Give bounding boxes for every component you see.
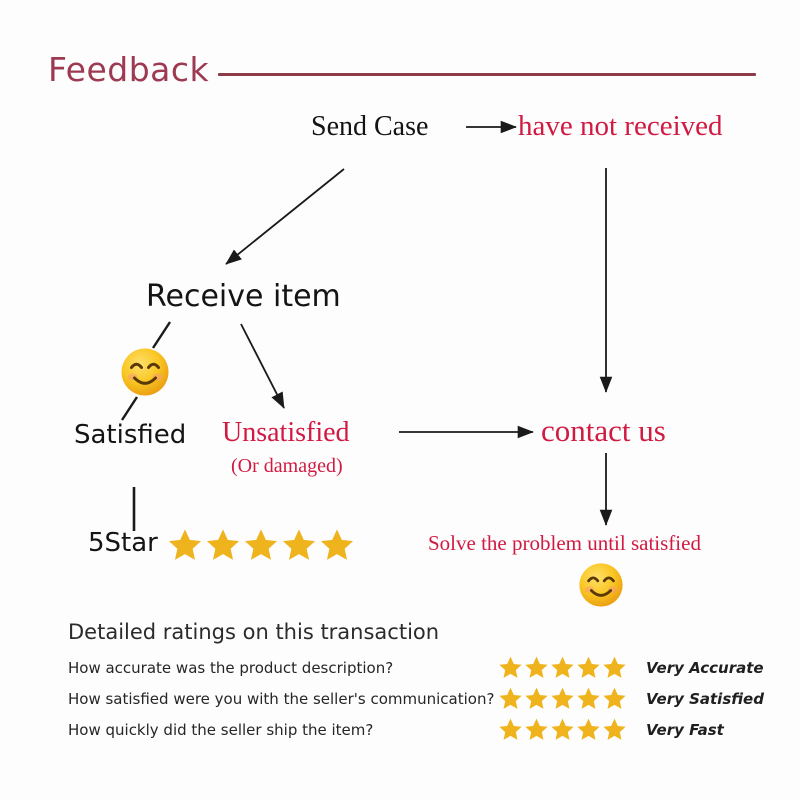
rating-row: How satisfied were you with the seller's… <box>68 683 768 714</box>
star-icon <box>602 655 627 680</box>
node-send-case: Send Case <box>311 111 428 143</box>
star-icon <box>524 655 549 680</box>
smiling-face-emoji <box>578 562 624 608</box>
node-5star-label: 5Star <box>88 528 158 558</box>
rating-row: How quickly did the seller ship the item… <box>68 714 768 745</box>
star-icon <box>576 717 601 742</box>
rating-stars <box>498 686 636 711</box>
rating-value: Very Satisfied <box>646 690 764 708</box>
rating-stars <box>498 655 636 680</box>
rating-value: Very Fast <box>646 721 724 739</box>
rating-stars <box>498 717 636 742</box>
star-icon <box>576 686 601 711</box>
node-have-not-received: have not received <box>518 110 723 143</box>
node-or-damaged: (Or damaged) <box>231 455 343 478</box>
star-icon <box>243 527 279 563</box>
rating-row: How accurate was the product description… <box>68 652 768 683</box>
star-icon <box>498 655 523 680</box>
smiling-face-emoji <box>120 347 170 397</box>
star-icon <box>550 686 575 711</box>
rating-question: How accurate was the product description… <box>68 659 498 677</box>
star-icon <box>602 686 627 711</box>
star-icon <box>550 655 575 680</box>
node-receive-item: Receive item <box>146 279 341 314</box>
star-icon <box>524 686 549 711</box>
line-receive-item-to-satisfied-upper <box>153 322 170 348</box>
star-icon <box>281 527 317 563</box>
page-title: Feedback <box>48 50 209 89</box>
star-icon <box>498 717 523 742</box>
star-icon <box>205 527 241 563</box>
rating-question: How satisfied were you with the seller's… <box>68 690 498 708</box>
node-solve-problem: Solve the problem until satisfied <box>428 531 701 556</box>
rating-value: Very Accurate <box>646 659 764 677</box>
star-icon <box>167 527 203 563</box>
star-icon <box>576 655 601 680</box>
arrow-receive-item-to-unsatisfied <box>241 324 284 408</box>
ratings-heading: Detailed ratings on this transaction <box>68 620 439 644</box>
ratings-list: How accurate was the product description… <box>68 652 768 745</box>
star-icon <box>524 717 549 742</box>
feedback-infographic: Feedback Send Case have not received Rec… <box>0 0 800 800</box>
star-icon <box>550 717 575 742</box>
header-divider <box>218 73 756 76</box>
arrow-send-case-to-receive-item <box>226 169 344 264</box>
star-icon <box>319 527 355 563</box>
five-star-rating <box>167 527 355 563</box>
node-unsatisfied: Unsatisfied <box>222 417 350 449</box>
rating-question: How quickly did the seller ship the item… <box>68 721 498 739</box>
node-contact-us: contact us <box>541 413 666 449</box>
line-receive-item-to-satisfied-lower <box>122 397 137 420</box>
star-icon <box>602 717 627 742</box>
node-satisfied: Satisfied <box>74 420 186 450</box>
star-icon <box>498 686 523 711</box>
